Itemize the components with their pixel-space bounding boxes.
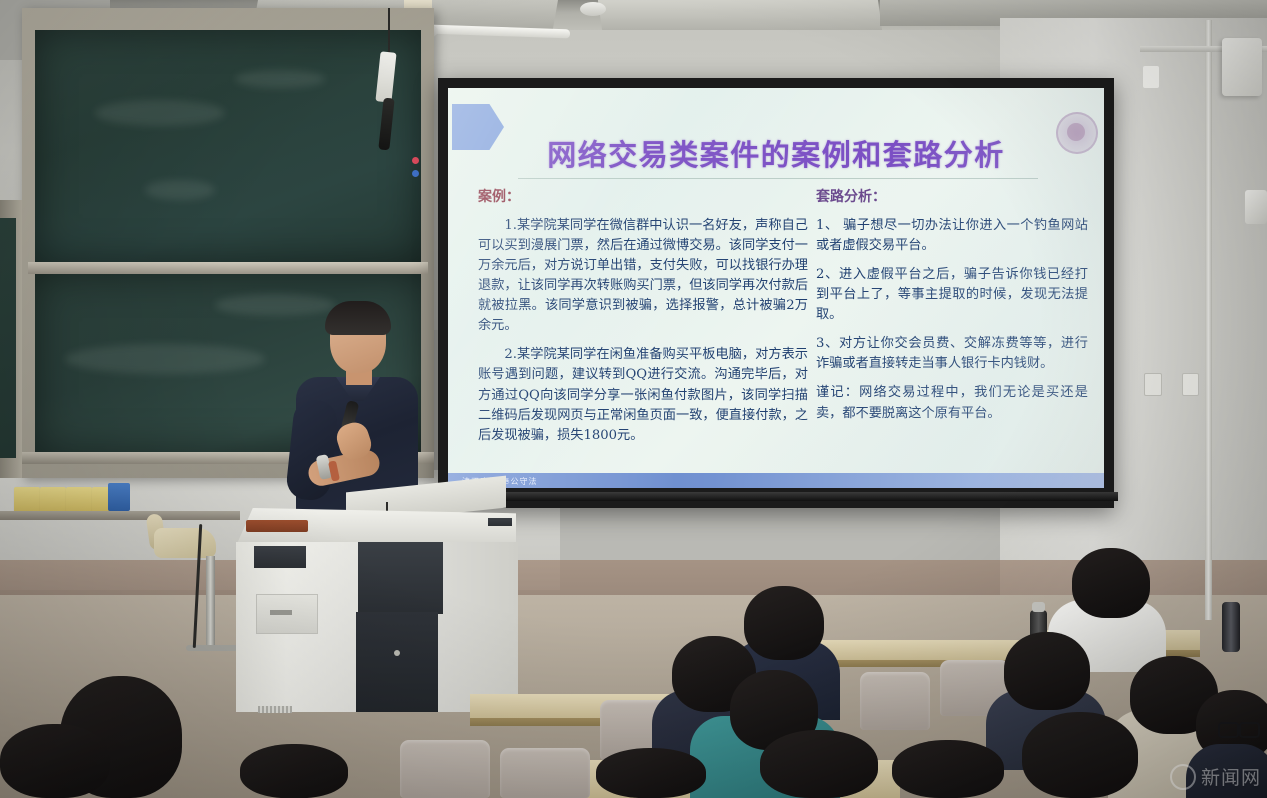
- case-paragraph-2-text: 2.某学院某同学在闲鱼准备购买平板电脑，对方表示账号遇到问题，建议转到QQ进行交…: [478, 347, 808, 442]
- lectern-front-panel-lower: [356, 612, 438, 712]
- lectern-wood-trim: [246, 520, 308, 532]
- slide-divider-rule: [518, 178, 1038, 179]
- indicator-dot-red: [412, 157, 419, 164]
- student-head: [744, 586, 824, 660]
- student-head: [1022, 712, 1138, 798]
- chalk-box: [40, 487, 66, 513]
- ceiling-beam: [598, 0, 882, 30]
- chalkboard-side-panel: [0, 218, 16, 458]
- chalk-shelf: [0, 511, 240, 520]
- case-heading: 案例：: [478, 186, 808, 206]
- student-head: [596, 748, 706, 798]
- student-desk: [820, 640, 1020, 662]
- ceiling-light-icon: [580, 2, 606, 16]
- student-head: [0, 724, 110, 798]
- lectern-badge: [488, 518, 512, 526]
- watermark: 新闻网: [1170, 763, 1261, 790]
- chalkboard-divider: [28, 262, 428, 274]
- lectern-drawer-label: [270, 610, 292, 615]
- case-paragraph-2: 2.某学院某同学在闲鱼准备购买平板电脑，对方表示账号遇到问题，建议转到QQ进行交…: [478, 345, 808, 445]
- watermark-logo-icon: [1170, 764, 1196, 790]
- student-head: [240, 744, 348, 798]
- analysis-heading: 套路分析：: [816, 186, 1088, 206]
- student-head: [760, 730, 878, 798]
- student-head: [892, 740, 1004, 798]
- stool-seat: [154, 528, 216, 558]
- slide-title: 网络交易类案件的案例和套路分析: [448, 132, 1104, 174]
- lectern-front-panel-upper: [358, 542, 443, 614]
- lecture-seat: [500, 748, 590, 798]
- eyeglasses-icon: [1218, 722, 1260, 734]
- analysis-item-2: 2、进入虚假平台之后，骗子告诉你钱已经打到平台上了，等事主提取的时候，发现无法提…: [816, 265, 1088, 325]
- analysis-item-3: 3、对方让你交会员费、交解冻费等等，进行诈骗或者直接转走当事人银行卡内钱财。: [816, 334, 1088, 374]
- lectern-vent: [258, 706, 292, 713]
- lectern-side-panel: [254, 546, 306, 568]
- chalk-box: [66, 487, 92, 513]
- lectern-lock-icon[interactable]: [394, 650, 400, 656]
- chalk-box-blue: [108, 483, 130, 511]
- analysis-item-1: 1、 骗子想尽一切办法让你进入一个钓鱼网站或者虚假交易平台。: [816, 216, 1088, 256]
- water-bottle-cap: [1032, 602, 1045, 612]
- case-paragraph-1: 1.某学院某同学在微信群中认识一名好友，声称自己可以买到漫展门票，然后在通过微博…: [478, 216, 808, 336]
- water-bottle-icon: [1222, 602, 1240, 652]
- lecture-seat: [400, 740, 490, 798]
- chalkboard-upper-panel: [35, 30, 421, 262]
- slide-footer-bar: 清正廉洁 奉公守法: [448, 473, 1104, 488]
- chalk-box: [14, 487, 40, 513]
- power-outlet-icon: [1182, 373, 1199, 396]
- wall-speaker-icon: [1222, 38, 1262, 96]
- stool-post: [206, 556, 215, 648]
- student-head: [1004, 632, 1090, 710]
- wall-fixture: [1143, 66, 1159, 88]
- analysis-note: 谨记：网络交易过程中，我们无论是买还是卖，都不要脱离这个原有平台。: [816, 383, 1088, 423]
- watermark-text: 新闻网: [1201, 763, 1261, 790]
- security-camera-icon: [1245, 190, 1267, 224]
- case-paragraph-1-text: 1.某学院某同学在微信群中认识一名好友，声称自己可以买到漫展门票，然后在通过微博…: [478, 218, 808, 333]
- student-head: [1072, 548, 1150, 618]
- presenter-hair: [325, 301, 391, 335]
- slide-right-column: 套路分析： 1、 骗子想尽一切办法让你进入一个钓鱼网站或者虚假交易平台。 2、进…: [816, 186, 1088, 433]
- power-outlet-icon: [1144, 373, 1162, 396]
- hanging-cable: [388, 8, 390, 54]
- wall-conduit-pipe: [1205, 20, 1212, 620]
- lecture-seat: [860, 672, 930, 730]
- indicator-dot-blue: [412, 170, 419, 177]
- projection-screen-bottom-rail: [438, 492, 1118, 501]
- projection-screen: 网络交易类案件的案例和套路分析 案例： 1.某学院某同学在微信群中认识一名好友，…: [448, 88, 1104, 488]
- slide-left-column: 案例： 1.某学院某同学在微信群中认识一名好友，声称自己可以买到漫展门票，然后在…: [478, 186, 808, 455]
- lecture-hall-photo: 网络交易类案件的案例和套路分析 案例： 1.某学院某同学在微信群中认识一名好友，…: [0, 0, 1267, 798]
